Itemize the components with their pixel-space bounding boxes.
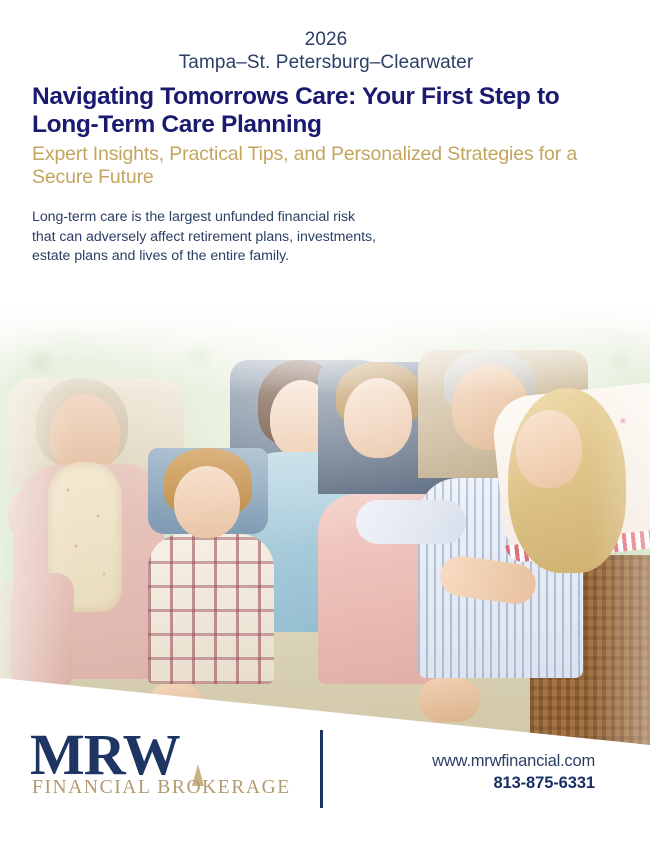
contact-info: www.mrwfinancial.com 813-875-6331 bbox=[351, 718, 595, 794]
boy-head bbox=[174, 466, 240, 538]
page-title: Navigating Tomorrows Care: Your First St… bbox=[32, 83, 612, 139]
logo-tagline: FINANCIAL BROKERAGE bbox=[32, 778, 292, 798]
girl-head bbox=[516, 410, 582, 488]
grandfather-hand bbox=[418, 678, 480, 722]
event-location: Tampa–St. Petersburg–Clearwater bbox=[32, 51, 620, 74]
flyer-page: 2026 Tampa–St. Petersburg–Clearwater Nav… bbox=[0, 0, 650, 841]
body-copy-line-3: estate plans and lives of the entire fam… bbox=[32, 247, 502, 267]
body-copy-line-1: Long-term care is the largest unfunded f… bbox=[32, 208, 502, 228]
boy-plaid-shirt bbox=[148, 534, 274, 684]
footer-divider bbox=[320, 730, 323, 808]
logo-wordmark: MRW bbox=[30, 726, 292, 784]
body-copy-line-2: that can adversely affect retirement pla… bbox=[32, 228, 502, 248]
event-year: 2026 bbox=[32, 28, 620, 51]
page-subtitle: Expert Insights, Practical Tips, and Per… bbox=[32, 143, 617, 189]
grandfather-arm bbox=[356, 500, 466, 544]
footer-bar: MRW FINANCIAL BROKERAGE www.mrwfinancial… bbox=[0, 718, 650, 841]
body-copy: Long-term care is the largest unfunded f… bbox=[32, 208, 502, 267]
phone-number[interactable]: 813-875-6331 bbox=[351, 772, 595, 794]
brand-logo: MRW FINANCIAL BROKERAGE bbox=[30, 718, 292, 798]
website-link[interactable]: www.mrwfinancial.com bbox=[351, 750, 595, 772]
header-text-block: 2026 Tampa–St. Petersburg–Clearwater Nav… bbox=[0, 0, 650, 267]
photo-top-fade bbox=[0, 300, 650, 395]
